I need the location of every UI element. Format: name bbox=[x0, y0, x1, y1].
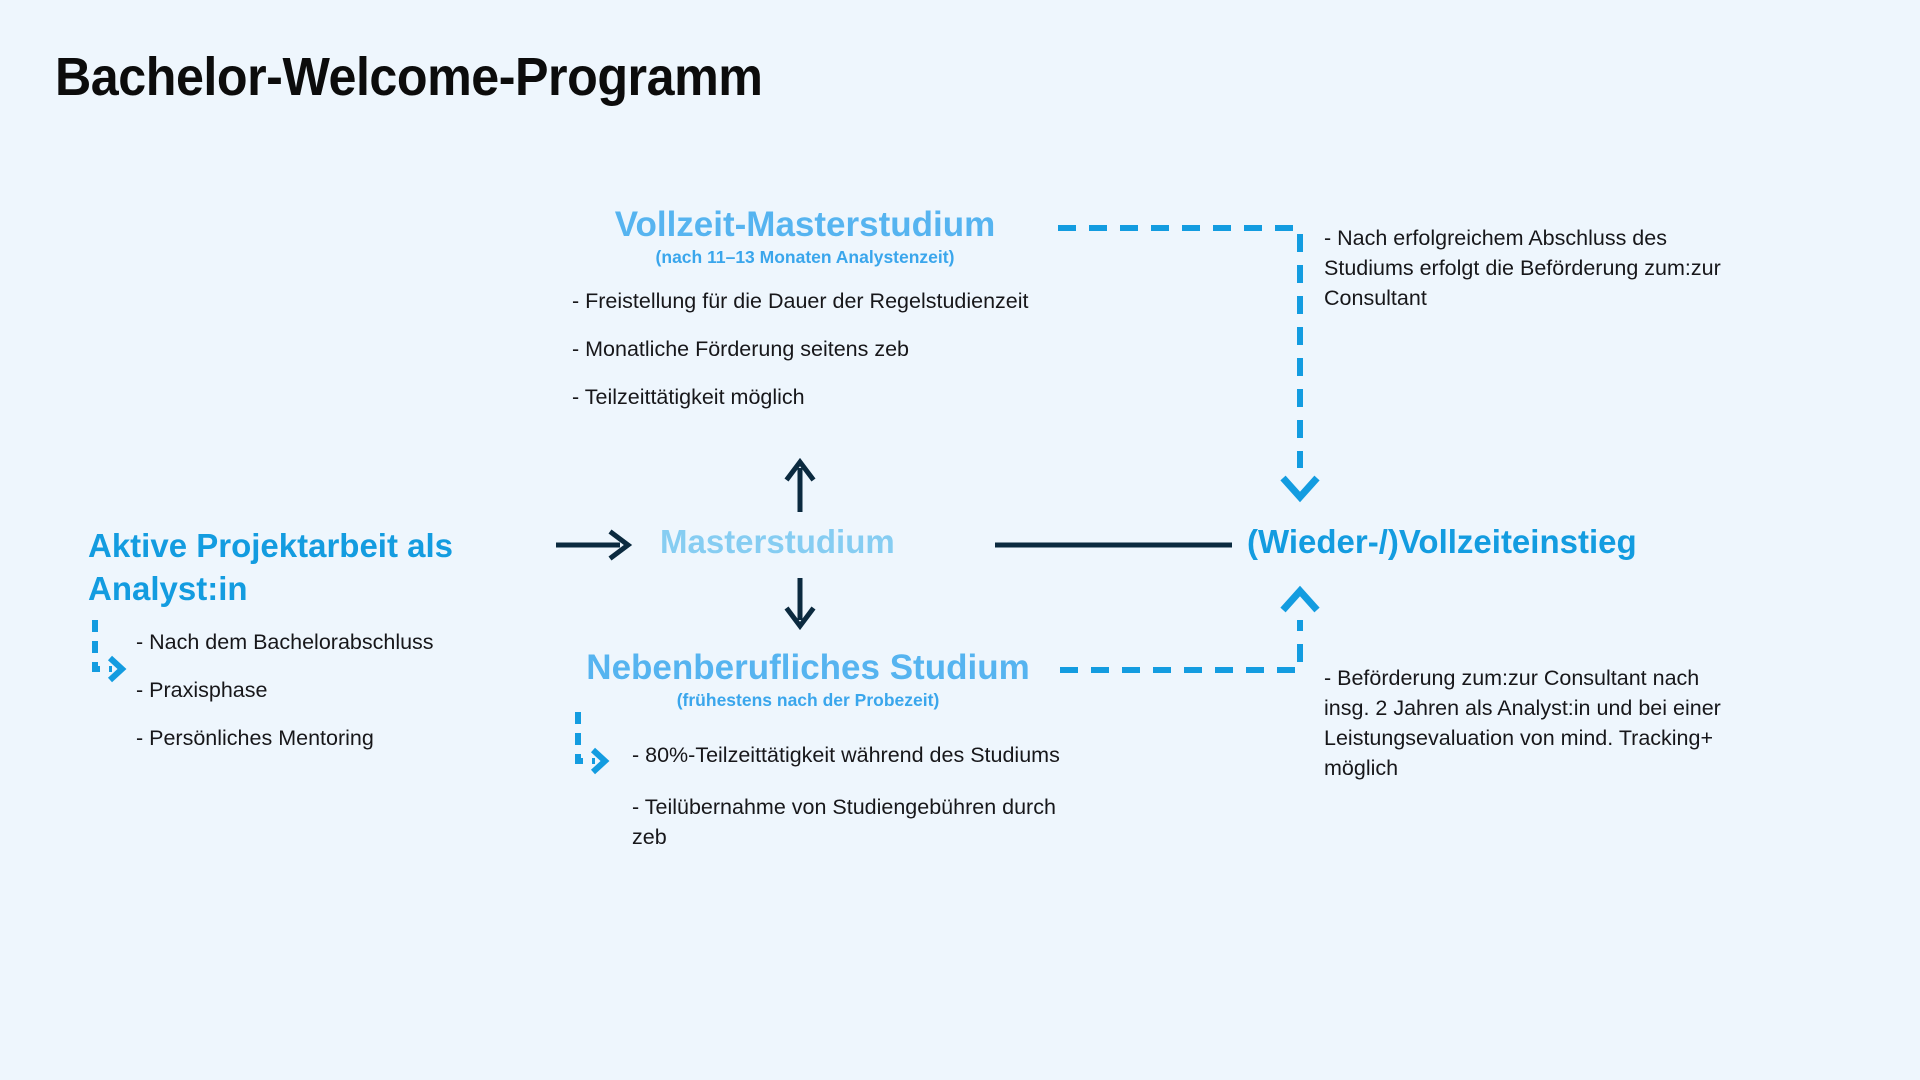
arrow-nebenberuflich-to-bullets bbox=[578, 712, 605, 772]
branch-vollzeit-title: Vollzeit-Masterstudium bbox=[580, 205, 1030, 245]
node-vollzeiteinstieg: (Wieder-/)Vollzeiteinstieg bbox=[1247, 523, 1637, 561]
arrow-analyst-to-master bbox=[556, 533, 628, 557]
bullet-item: - Persönliches Mentoring bbox=[136, 724, 434, 753]
bullet-item: - Nach dem Bachelorabschluss bbox=[136, 628, 434, 657]
branch-nebenberufliches-studium: Nebenberufliches Studium (frühestens nac… bbox=[553, 648, 1063, 711]
diagram-canvas: Bachelor-Welcome-Programm bbox=[0, 0, 1920, 1080]
vollzeit-bullet-list: - Freistellung für die Dauer der Regelst… bbox=[572, 287, 1029, 412]
page-title: Bachelor-Welcome-Programm bbox=[55, 46, 762, 108]
arrow-nebenberuflich-to-einstieg bbox=[1060, 591, 1317, 670]
bullet-item: - 80%-Teilzeittätigkeit während des Stud… bbox=[632, 740, 1072, 770]
node-masterstudium: Masterstudium bbox=[660, 523, 895, 561]
branch-nebenberuflich-subtitle: (frühestens nach der Probezeit) bbox=[553, 690, 1063, 711]
node-analyst-line2: Analyst:in bbox=[88, 567, 558, 610]
nebenberuflich-bullet-list: - 80%-Teilzeittätigkeit während des Stud… bbox=[632, 740, 1072, 852]
node-analyst-line1: Aktive Projektarbeit als bbox=[88, 524, 558, 567]
branch-vollzeit-subtitle: (nach 11–13 Monaten Analystenzeit) bbox=[580, 247, 1030, 268]
analyst-bullet-list: - Nach dem Bachelorabschluss - Praxispha… bbox=[136, 628, 434, 753]
node-aktive-projektarbeit: Aktive Projektarbeit als Analyst:in bbox=[88, 524, 558, 610]
bullet-item: - Monatliche Förderung seitens zeb bbox=[572, 335, 1029, 364]
arrow-master-to-nebenberuflich bbox=[788, 578, 812, 626]
bullet-item: - Teilzeittätigkeit möglich bbox=[572, 383, 1029, 412]
note-top-right: - Nach erfolgreichem Abschluss des Studi… bbox=[1324, 223, 1724, 313]
bullet-item: - Praxisphase bbox=[136, 676, 434, 705]
arrow-analyst-to-bullets bbox=[95, 620, 122, 680]
bullet-item: - Freistellung für die Dauer der Regelst… bbox=[572, 287, 1029, 316]
note-bottom-right: - Beförderung zum:zur Consultant nach in… bbox=[1324, 663, 1734, 783]
branch-nebenberuflich-title: Nebenberufliches Studium bbox=[553, 648, 1063, 688]
arrow-master-to-vollzeit-master bbox=[788, 462, 812, 512]
arrow-vollzeitmaster-to-einstieg bbox=[1058, 228, 1317, 497]
branch-vollzeit-masterstudium: Vollzeit-Masterstudium (nach 11–13 Monat… bbox=[580, 205, 1030, 268]
bullet-item: - Teilübernahme von Studiengebühren durc… bbox=[632, 792, 1072, 852]
